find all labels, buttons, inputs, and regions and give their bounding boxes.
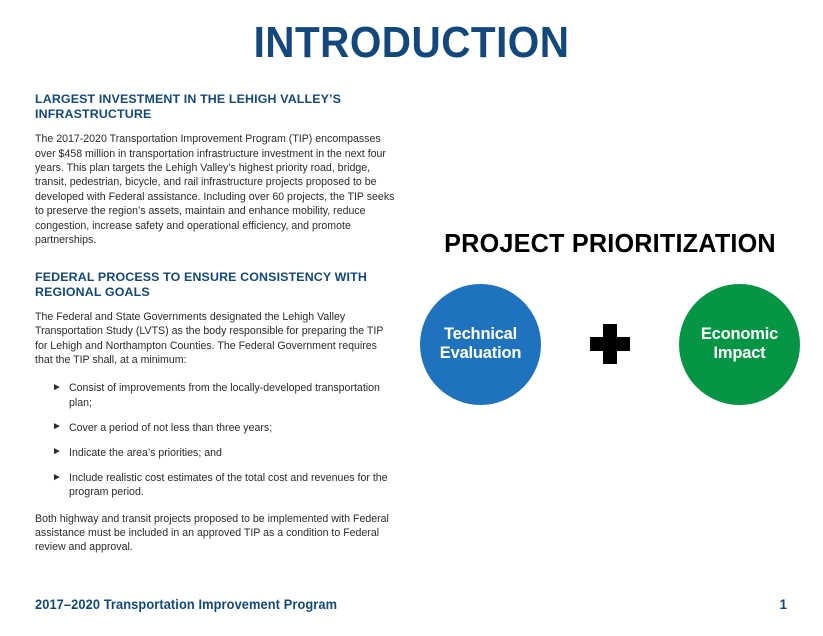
footer-document-title: 2017–2020 Transportation Improvement Pro…	[35, 597, 337, 612]
list-item-label: Include realistic cost estimates of the …	[69, 472, 388, 498]
list-item: ► Consist of improvements from the local…	[35, 381, 397, 409]
section-heading-federal-process: FEDERAL PROCESS TO ENSURE CONSISTENCY WI…	[35, 270, 397, 300]
section-paragraph-largest-investment: The 2017-2020 Transportation Improvement…	[35, 132, 397, 247]
list-item-label: Cover a period of not less than three ye…	[69, 422, 272, 434]
list-item-label: Consist of improvements from the locally…	[69, 382, 380, 408]
circle-technical-evaluation: Technical Evaluation	[420, 284, 541, 405]
left-text-column: LARGEST INVESTMENT IN THE LEHIGH VALLEY’…	[35, 92, 397, 567]
circle-label-technical-evaluation: Technical Evaluation	[420, 325, 541, 363]
triangle-bullet-icon: ►	[52, 445, 62, 459]
list-item: ► Cover a period of not less than three …	[35, 421, 397, 435]
graphic-title: PROJECT PRIORITIZATION	[426, 228, 795, 259]
page-title: INTRODUCTION	[33, 20, 790, 66]
circle-economic-impact: Economic Impact	[679, 284, 800, 405]
list-item: ► Indicate the area’s priorities; and	[35, 446, 397, 460]
section-paragraph-federal-process: The Federal and State Governments design…	[35, 310, 397, 368]
graphic-circle-row: Technical Evaluation Economic Impact	[420, 280, 800, 408]
requirements-bullet-list: ► Consist of improvements from the local…	[35, 381, 397, 499]
triangle-bullet-icon: ►	[52, 381, 62, 395]
circle-label-economic-impact: Economic Impact	[679, 325, 800, 363]
section-heading-largest-investment: LARGEST INVESTMENT IN THE LEHIGH VALLEY’…	[35, 92, 397, 122]
triangle-bullet-icon: ►	[52, 420, 62, 434]
footer-page-number: 1	[779, 597, 787, 612]
document-page: INTRODUCTION LARGEST INVESTMENT IN THE L…	[0, 0, 823, 636]
list-item-label: Indicate the area’s priorities; and	[69, 447, 222, 459]
list-item: ► Include realistic cost estimates of th…	[35, 471, 397, 499]
plus-icon	[590, 324, 630, 364]
project-prioritization-graphic: PROJECT PRIORITIZATION Technical Evaluat…	[420, 228, 800, 413]
triangle-bullet-icon: ►	[52, 471, 62, 485]
closing-paragraph: Both highway and transit projects propos…	[35, 512, 397, 555]
